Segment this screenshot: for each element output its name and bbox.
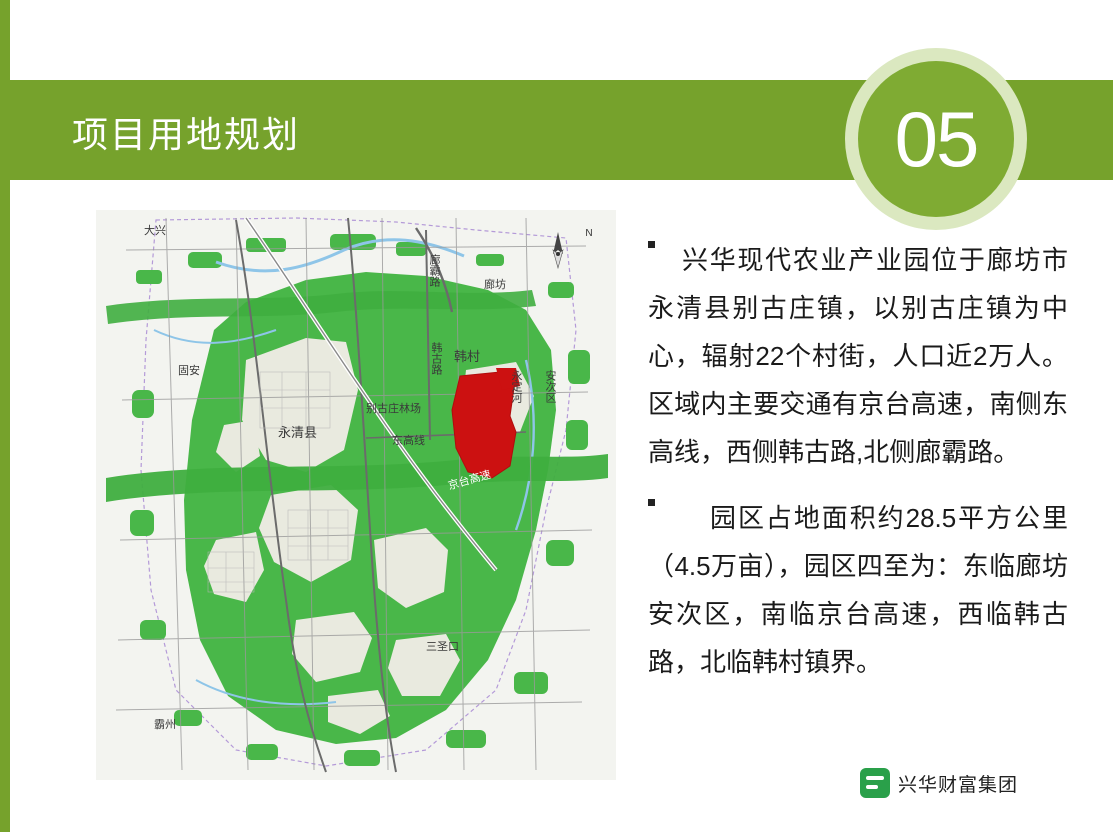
map-label-anci-district: 安次区 — [542, 370, 558, 403]
map-label-langba-road: 廊霸路 — [426, 254, 442, 287]
paragraph-1: 兴华现代农业产业园位于廊坊市永清县别古庄镇，以别古庄镇为中心，辐射22个村街，人… — [648, 236, 1068, 476]
map-label-langfang: 廊坊 — [484, 276, 506, 292]
compass-north-label: N — [576, 228, 602, 239]
section-number-label: 05 — [895, 100, 978, 178]
bullet-icon-1 — [648, 241, 655, 248]
map-label-sanshengkou: 三圣口 — [426, 638, 459, 654]
bullet-icon-2 — [648, 499, 655, 506]
section-number-badge: 05 — [858, 61, 1014, 217]
map-label-daxing: 大兴 — [144, 222, 166, 238]
paragraph-2-text: 园区占地面积约28.5平方公里（4.5万亩），园区四至为：东临廊坊安次区，南临京… — [648, 494, 1068, 686]
footer-logo-label: 兴华财富集团 — [898, 770, 1018, 797]
map-label-hancun: 韩村 — [454, 346, 480, 365]
map-label-hangu-road: 韩古路 — [428, 342, 444, 375]
map-label-yongding-river: 永定河 — [508, 370, 524, 403]
map-label-biegu-forest-farm: 别古庄林场 — [366, 400, 421, 416]
map-vector — [96, 210, 616, 780]
compass-label: N — [576, 228, 602, 290]
map-image: N 大兴 廊坊 固安 廊霸路 韩村 韩古路 永定河 安次区 别古庄林场 永清县 … — [96, 210, 616, 780]
map-label-yongqing-county: 永清县 — [278, 422, 317, 441]
footer-logo: 兴华财富集团 — [860, 768, 1018, 798]
map-label-guan: 固安 — [178, 362, 200, 378]
map-label-bazhou: 霸州 — [154, 716, 176, 732]
page-title: 项目用地规划 — [72, 106, 300, 158]
map-label-donggao-line: 东高线 — [392, 432, 425, 448]
slide-root: 项目用地规划 05 — [0, 0, 1113, 832]
paragraph-1-text: 兴华现代农业产业园位于廊坊市永清县别古庄镇，以别古庄镇为中心，辐射22个村街，人… — [648, 236, 1068, 476]
paragraph-2: 园区占地面积约28.5平方公里（4.5万亩），园区四至为：东临廊坊安次区，南临京… — [648, 494, 1068, 686]
left-accent-stripe — [0, 0, 10, 832]
wechat-logo-icon — [860, 768, 890, 798]
content-column: 兴华现代农业产业园位于廊坊市永清县别古庄镇，以别古庄镇为中心，辐射22个村街，人… — [648, 236, 1068, 704]
